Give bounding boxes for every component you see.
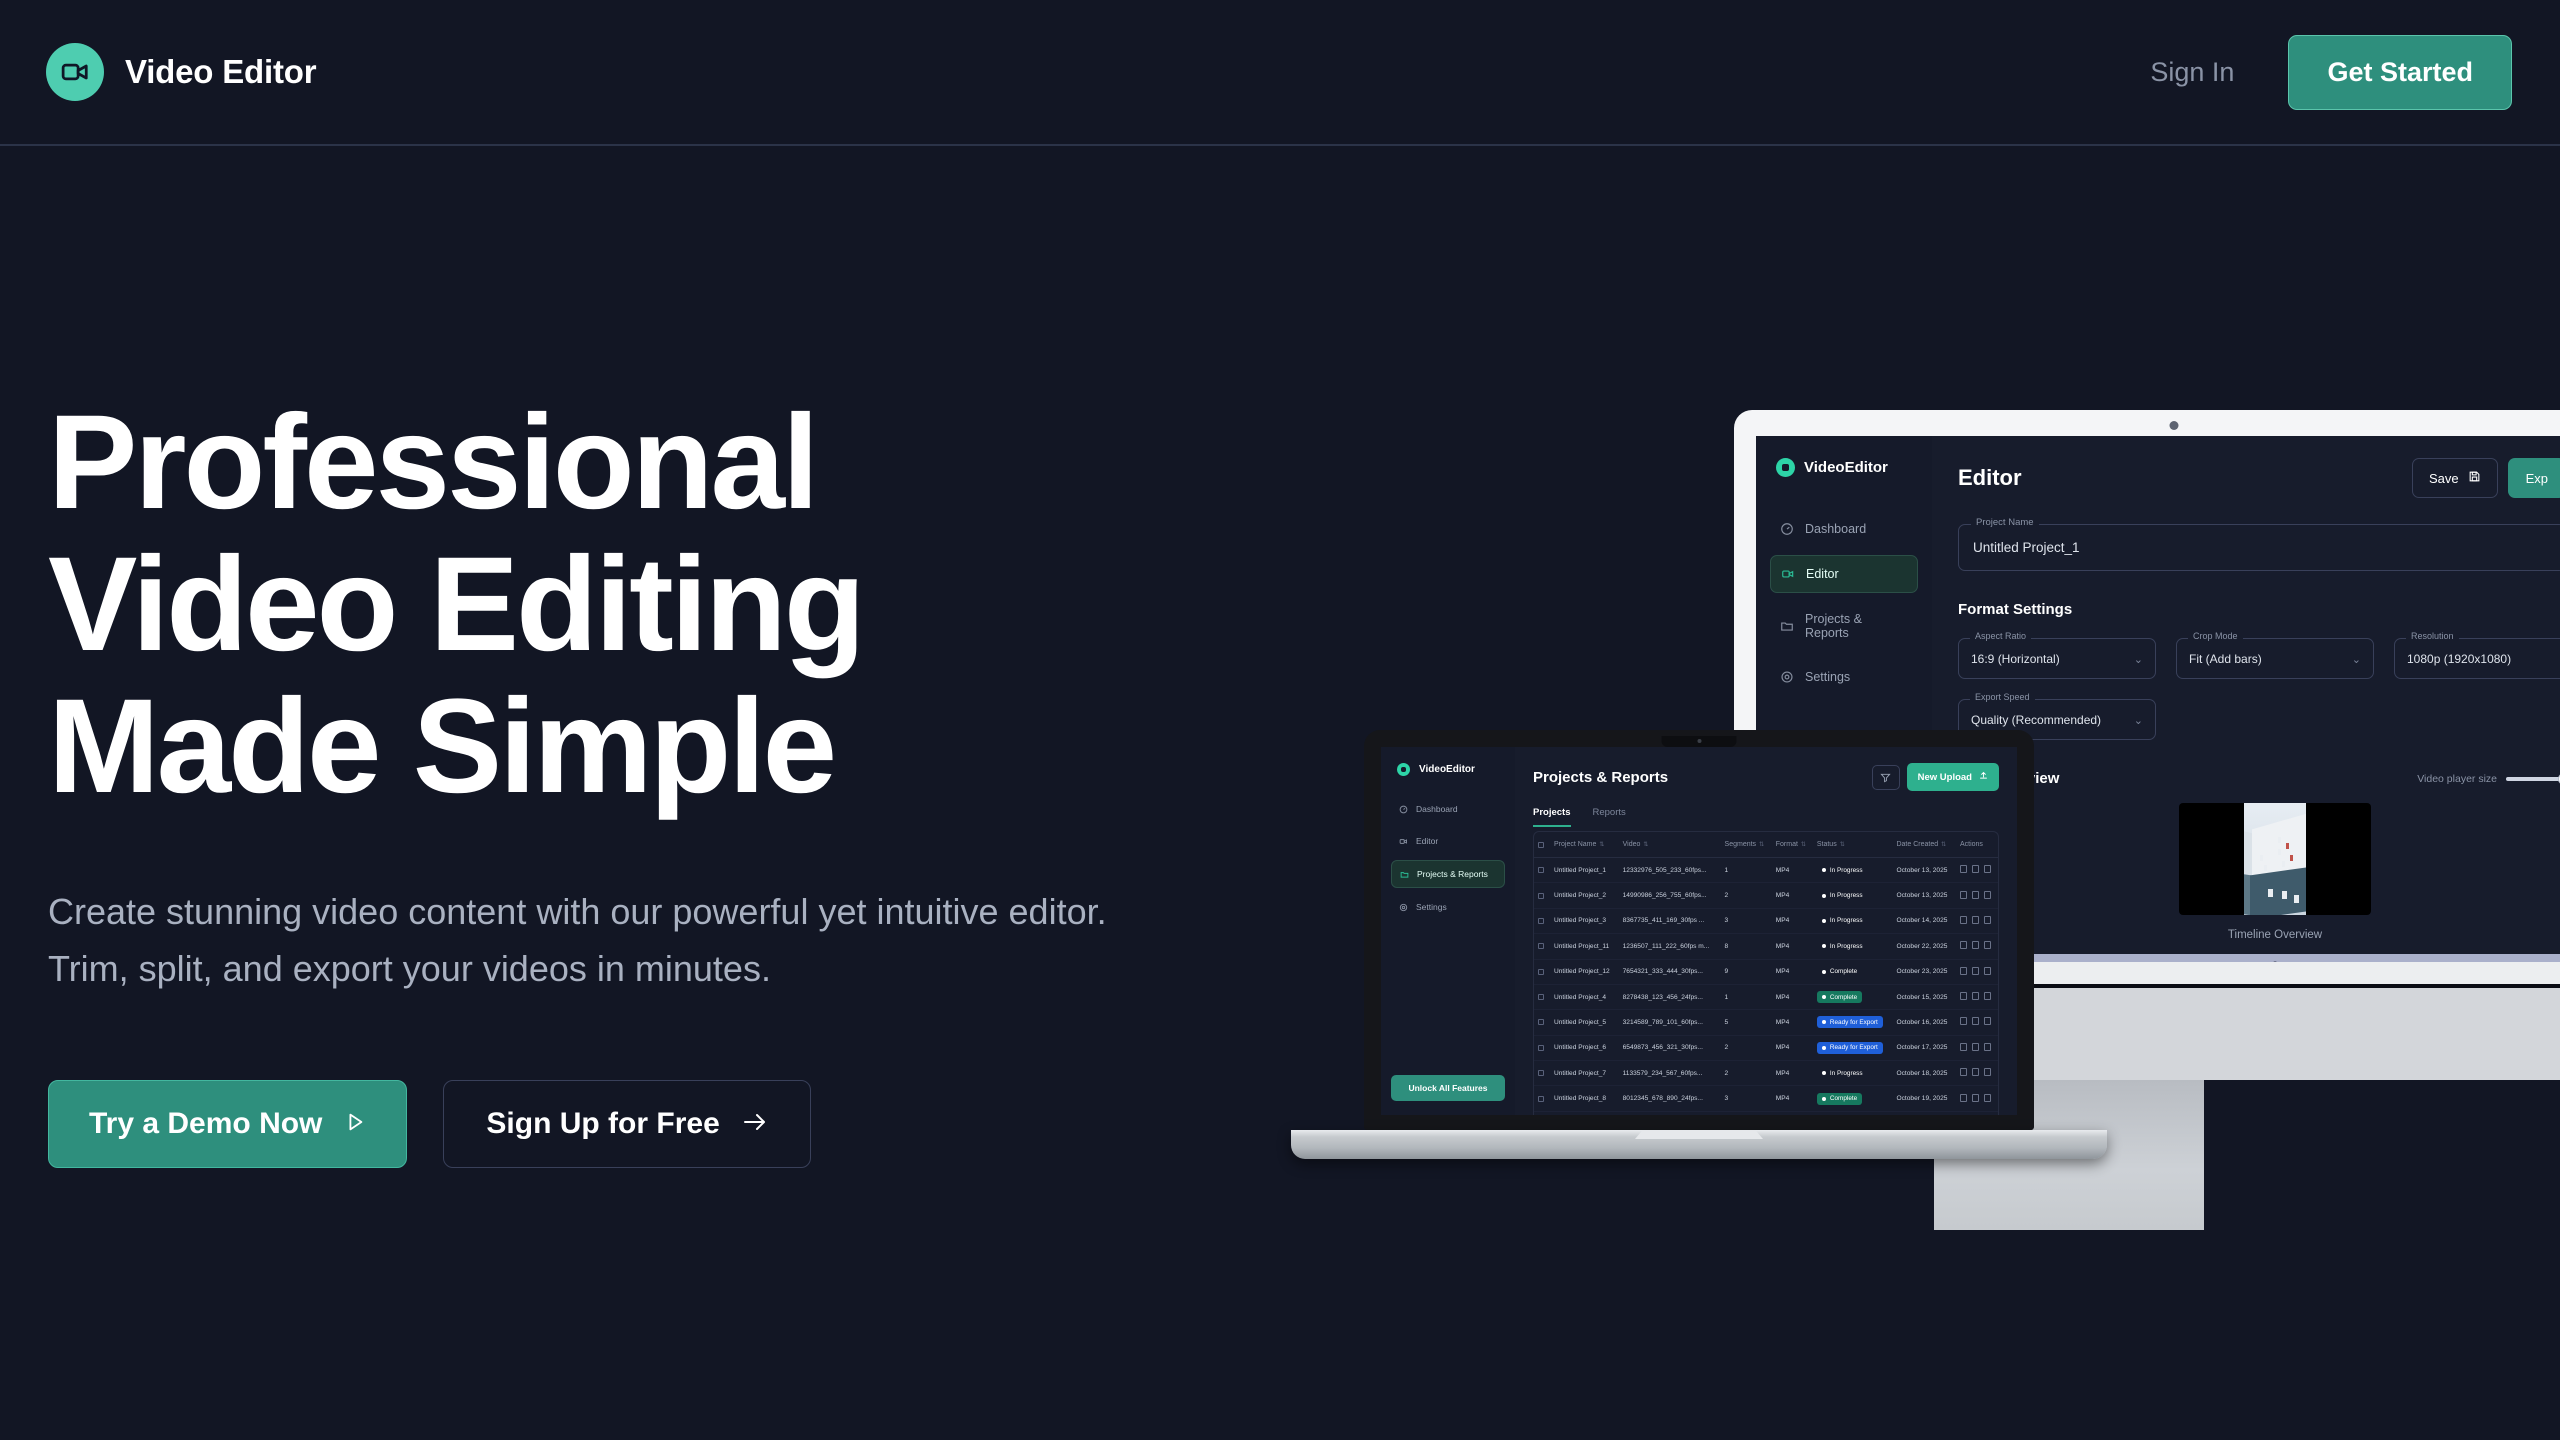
cell-project-name: Untitled Project_5 [1550, 1010, 1619, 1035]
status-dot-icon [1822, 919, 1826, 923]
cell-actions [1956, 883, 1998, 908]
checkbox-icon[interactable] [1538, 1045, 1544, 1051]
aspect-ratio-value: 16:9 (Horizontal) [1971, 652, 2060, 666]
export-speed-value: Quality (Recommended) [1971, 713, 2101, 727]
sort-icon: ⇅ [1759, 842, 1764, 848]
cell-segments: 2 [1721, 1061, 1772, 1086]
cell-date-created: October 18, 2025 [1892, 1061, 1955, 1086]
row-checkbox-cell[interactable] [1534, 1035, 1550, 1060]
resolution-select[interactable]: Resolution 1080p (1920x1080) ⌄ [2394, 638, 2560, 679]
cell-project-name: Untitled Project_4 [1550, 984, 1619, 1009]
sidebar-label: Dashboard [1416, 804, 1458, 814]
status-badge: In Progress [1817, 915, 1868, 927]
sign-up-label: Sign Up for Free [486, 1107, 719, 1141]
table-body: Untitled Project_112332976_505_233_60fps… [1534, 858, 1998, 1116]
status-badge: Complete [1817, 991, 1862, 1003]
cell-actions [1956, 908, 1998, 933]
cell-project-name: Untitled Project_3 [1550, 908, 1619, 933]
edit-icon[interactable] [1960, 916, 1967, 924]
column-segments[interactable]: Segments⇅ [1721, 832, 1772, 858]
sidebar-label: Editor [1416, 836, 1438, 846]
row-checkbox-cell[interactable] [1534, 858, 1550, 883]
sidebar-item-dashboard[interactable]: Dashboard [1770, 511, 1918, 547]
status-dot-icon [1822, 1071, 1826, 1075]
resolution-value: 1080p (1920x1080) [2407, 652, 2511, 666]
checkbox-icon[interactable] [1538, 893, 1544, 899]
projects-table: Project Name⇅ Video⇅ Segments⇅ Format⇅ S… [1534, 832, 1998, 1115]
app-logo: VideoEditor [1770, 458, 1918, 477]
status-badge: Complete [1817, 966, 1862, 978]
status-label: In Progress [1830, 892, 1863, 899]
delete-icon[interactable] [1984, 865, 1991, 873]
cell-format: MP4 [1772, 1111, 1813, 1115]
cell-date-created: October 16, 2025 [1892, 1010, 1955, 1035]
laptop-screen: VideoEditor Dashboard Editor Projec [1381, 747, 2017, 1115]
download-icon[interactable] [1972, 865, 1979, 873]
resolution-label: Resolution [2406, 631, 2459, 641]
row-checkbox-cell[interactable] [1534, 1086, 1550, 1111]
download-icon[interactable] [1972, 941, 1979, 949]
video-icon [1781, 567, 1795, 581]
status-label: Ready for Export [1830, 1044, 1878, 1051]
export-button[interactable]: Exp [2508, 458, 2560, 498]
player-size-slider[interactable] [2506, 777, 2560, 781]
sort-icon: ⇅ [1801, 842, 1806, 848]
status-dot-icon [1822, 1097, 1826, 1101]
laptop-lid: VideoEditor Dashboard Editor Projec [1364, 730, 2034, 1130]
status-label: In Progress [1830, 867, 1863, 874]
cell-segments: 1 [1721, 858, 1772, 883]
cell-date-created: October 17, 2025 [1892, 1035, 1955, 1060]
folder-icon [1780, 619, 1794, 633]
tab-reports[interactable]: Reports [1593, 807, 1626, 827]
try-demo-button[interactable]: Try a Demo Now [48, 1080, 407, 1168]
status-badge: Complete [1817, 1093, 1862, 1105]
delete-icon[interactable] [1984, 1094, 1991, 1102]
player-size-control[interactable]: Video player size [2417, 773, 2560, 785]
cell-status: Ready for Export [1813, 1010, 1893, 1035]
site-header: Video Editor Sign In Get Started [0, 0, 2560, 146]
cell-video: 1133579_234_567_60fps... [1619, 1061, 1721, 1086]
status-dot-icon [1822, 1020, 1826, 1024]
cell-actions [1956, 1086, 1998, 1111]
arrow-right-icon [742, 1107, 768, 1141]
webcam-icon [2170, 421, 2179, 430]
project-name-label: Project Name [1971, 517, 2039, 528]
sidebar-label: Settings [1805, 670, 1850, 684]
project-name-field[interactable]: Project Name Untitled Project_1 [1958, 524, 2560, 571]
sign-up-button[interactable]: Sign Up for Free [443, 1080, 810, 1168]
status-dot-icon [1822, 970, 1826, 974]
sidebar-label: Projects & Reports [1805, 612, 1908, 640]
sidebar-item-projects-reports[interactable]: Projects & Reports [1391, 860, 1505, 888]
cell-date-created: October 19, 2025 [1892, 1086, 1955, 1111]
sidebar-item-settings[interactable]: Settings [1770, 659, 1918, 695]
edit-icon[interactable] [1960, 941, 1967, 949]
app-logo: VideoEditor [1391, 763, 1505, 776]
status-dot-icon [1822, 868, 1826, 872]
chevron-down-icon: ⌄ [2134, 714, 2143, 727]
checkbox-icon[interactable] [1538, 969, 1544, 975]
video-camera-icon [46, 43, 104, 101]
cell-actions [1956, 984, 1998, 1009]
cell-format: MP4 [1772, 858, 1813, 883]
sidebar-item-editor[interactable]: Editor [1391, 828, 1505, 854]
gauge-icon [1780, 522, 1794, 536]
cell-date-created: October 22, 2025 [1892, 934, 1955, 959]
gear-icon [1399, 903, 1408, 912]
floppy-disk-icon [2468, 470, 2481, 486]
edit-icon[interactable] [1960, 1094, 1967, 1102]
cell-video: 2345678_123_456_60fps... [1619, 1111, 1721, 1115]
chevron-down-icon: ⌄ [2134, 653, 2143, 666]
cell-actions [1956, 1111, 1998, 1115]
video-icon [1397, 763, 1410, 776]
status-label: Complete [1830, 994, 1857, 1001]
table-row[interactable]: Untitled Project_48278438_123_456_24fps.… [1534, 984, 1998, 1009]
status-label: Ready for Export [1830, 1019, 1878, 1026]
editor-page-title: Editor [1958, 465, 2022, 491]
project-name-value: Untitled Project_1 [1973, 540, 2080, 555]
sort-icon: ⇅ [1643, 842, 1648, 848]
page-title: Professional Video Editing Made Simple [48, 392, 1128, 818]
status-badge: In Progress [1817, 890, 1868, 902]
cell-date-created: October 14, 2025 [1892, 908, 1955, 933]
editor-header-actions: Save Exp [2412, 458, 2560, 498]
delete-icon[interactable] [1984, 992, 1991, 1000]
new-upload-label: New Upload [1918, 772, 1972, 783]
status-label: Complete [1830, 968, 1857, 975]
aspect-ratio-label: Aspect Ratio [1970, 631, 2031, 641]
cell-date-created: October 15, 2025 [1892, 984, 1955, 1009]
row-checkbox-cell[interactable] [1534, 934, 1550, 959]
sort-icon: ⇅ [1941, 842, 1946, 848]
delete-icon[interactable] [1984, 967, 1991, 975]
delete-icon[interactable] [1984, 1068, 1991, 1076]
cell-status: In Progress [1813, 908, 1893, 933]
delete-icon[interactable] [1984, 1043, 1991, 1051]
app-logo-label: VideoEditor [1419, 764, 1475, 775]
row-checkbox-cell[interactable] [1534, 1111, 1550, 1115]
row-checkbox-cell[interactable] [1534, 883, 1550, 908]
edit-icon[interactable] [1960, 1017, 1967, 1025]
sidebar-label: Dashboard [1805, 522, 1866, 536]
sidebar-label: Editor [1806, 567, 1839, 581]
unlock-all-features-button[interactable]: Unlock All Features [1391, 1075, 1505, 1101]
upload-icon [1979, 771, 1988, 783]
cell-segments: 3 [1721, 1086, 1772, 1111]
cell-project-name: Untitled Project_8 [1550, 1086, 1619, 1111]
cell-status: In Progress [1813, 1061, 1893, 1086]
projects-sidebar: VideoEditor Dashboard Editor Projec [1381, 747, 1515, 1115]
sign-in-link[interactable]: Sign In [2150, 57, 2234, 88]
download-icon[interactable] [1972, 1068, 1979, 1076]
aspect-ratio-select[interactable]: Aspect Ratio 16:9 (Horizontal) ⌄ [1958, 638, 2156, 679]
table-row[interactable]: Untitled Project_92345678_123_456_60fps.… [1534, 1111, 1998, 1115]
video-player[interactable] [2179, 803, 2371, 915]
column-format[interactable]: Format⇅ [1772, 832, 1813, 858]
delete-icon[interactable] [1984, 891, 1991, 899]
delete-icon[interactable] [1984, 916, 1991, 924]
status-badge: In Progress [1817, 864, 1868, 876]
projects-tabs: Projects Reports [1533, 807, 2017, 827]
try-demo-label: Try a Demo Now [89, 1107, 322, 1141]
cell-video: 14990986_256_755_60fps... [1619, 883, 1721, 908]
status-badge: In Progress [1817, 940, 1868, 952]
checkbox-icon[interactable] [1538, 867, 1544, 873]
cell-video: 12332976_505_233_60fps... [1619, 858, 1721, 883]
cell-format: MP4 [1772, 984, 1813, 1009]
gear-icon [1780, 670, 1794, 684]
chevron-down-icon: ⌄ [2352, 653, 2361, 666]
landing-page: Video Editor Sign In Get Started Profess… [0, 0, 2560, 1440]
download-icon[interactable] [1972, 1094, 1979, 1102]
download-icon[interactable] [1972, 1017, 1979, 1025]
column-video[interactable]: Video⇅ [1619, 832, 1721, 858]
crop-mode-select[interactable]: Crop Mode Fit (Add bars) ⌄ [2176, 638, 2374, 679]
table-row[interactable]: Untitled Project_66549873_456_321_30fps.… [1534, 1035, 1998, 1060]
webcam-icon [1662, 736, 1737, 747]
edit-icon[interactable] [1960, 891, 1967, 899]
sidebar-item-dashboard[interactable]: Dashboard [1391, 796, 1505, 822]
sidebar-item-settings[interactable]: Settings [1391, 894, 1505, 920]
cell-format: MP4 [1772, 883, 1813, 908]
status-dot-icon [1822, 995, 1826, 999]
checkbox-icon[interactable] [1538, 1019, 1544, 1025]
crop-mode-label: Crop Mode [2188, 631, 2243, 641]
save-button[interactable]: Save [2412, 458, 2498, 498]
cell-date-created: October 20, 2025 [1892, 1111, 1955, 1115]
table-row[interactable]: Untitled Project_111236507_111_222_60fps… [1534, 934, 1998, 959]
column-project-name[interactable]: Project Name⇅ [1550, 832, 1619, 858]
crop-mode-value: Fit (Add bars) [2189, 652, 2262, 666]
cell-segments: 2 [1721, 883, 1772, 908]
save-label: Save [2429, 471, 2459, 486]
cell-segments: 8 [1721, 934, 1772, 959]
laptop-base [1291, 1130, 2107, 1159]
cell-project-name: Untitled Project_12 [1550, 959, 1619, 984]
export-speed-label: Export Speed [1970, 692, 2035, 702]
brand-logo[interactable]: Video Editor [46, 43, 316, 101]
cell-status: Complete [1813, 959, 1893, 984]
cell-video: 8012345_678_890_24fps... [1619, 1086, 1721, 1111]
download-icon[interactable] [1972, 1043, 1979, 1051]
cell-status: Ready for Export [1813, 1111, 1893, 1115]
cell-segments: 2 [1721, 1035, 1772, 1060]
status-dot-icon [1822, 944, 1826, 948]
cell-segments: 1 [1721, 984, 1772, 1009]
cell-project-name: Untitled Project_6 [1550, 1035, 1619, 1060]
sort-icon: ⇅ [1840, 842, 1845, 848]
brand-name: Video Editor [125, 53, 316, 91]
get-started-button[interactable]: Get Started [2288, 35, 2512, 110]
table-row[interactable]: Untitled Project_88012345_678_890_24fps.… [1534, 1086, 1998, 1111]
status-dot-icon [1822, 894, 1826, 898]
cell-segments: 9 [1721, 959, 1772, 984]
status-label: Complete [1830, 1095, 1857, 1102]
row-checkbox-cell[interactable] [1534, 908, 1550, 933]
cell-video: 8278438_123_456_24fps... [1619, 984, 1721, 1009]
cell-status: In Progress [1813, 858, 1893, 883]
row-checkbox-cell[interactable] [1534, 1061, 1550, 1086]
column-status[interactable]: Status⇅ [1813, 832, 1893, 858]
status-badge: In Progress [1817, 1067, 1868, 1079]
cell-project-name: Untitled Project_9 [1550, 1111, 1619, 1115]
download-icon[interactable] [1972, 967, 1979, 975]
cell-video: 8367735_411_169_30fps ... [1619, 908, 1721, 933]
table-row[interactable]: Untitled Project_112332976_505_233_60fps… [1534, 858, 1998, 883]
cell-video: 7654321_333_444_30fps... [1619, 959, 1721, 984]
cell-date-created: October 13, 2025 [1892, 883, 1955, 908]
cell-status: In Progress [1813, 934, 1893, 959]
cell-actions [1956, 1010, 1998, 1035]
folder-icon [1400, 870, 1409, 879]
edit-icon[interactable] [1960, 992, 1967, 1000]
edit-icon[interactable] [1960, 865, 1967, 873]
format-settings-title: Format Settings [1958, 601, 2560, 618]
status-dot-icon [1822, 1046, 1826, 1050]
editor-header: Editor Save Exp [1958, 458, 2560, 498]
checkbox-icon[interactable] [1538, 842, 1544, 848]
cell-status: Complete [1813, 984, 1893, 1009]
sidebar-label: Settings [1416, 902, 1447, 912]
edit-icon[interactable] [1960, 967, 1967, 975]
gauge-icon [1399, 805, 1408, 814]
video-thumbnail [2244, 803, 2306, 915]
cell-video: 3214589_789_101_60fps... [1619, 1010, 1721, 1035]
sort-icon: ⇅ [1599, 842, 1604, 848]
table-header: Project Name⇅ Video⇅ Segments⇅ Format⇅ S… [1534, 832, 1998, 858]
cell-format: MP4 [1772, 959, 1813, 984]
laptop-front-notch [1635, 1130, 1763, 1139]
row-checkbox-cell[interactable] [1534, 1010, 1550, 1035]
cell-project-name: Untitled Project_7 [1550, 1061, 1619, 1086]
cell-segments: 4 [1721, 1111, 1772, 1115]
checkbox-icon[interactable] [1538, 918, 1544, 924]
cell-format: MP4 [1772, 908, 1813, 933]
download-icon[interactable] [1972, 992, 1979, 1000]
sidebar-item-editor[interactable]: Editor [1770, 555, 1918, 593]
cell-status: In Progress [1813, 883, 1893, 908]
cell-project-name: Untitled Project_2 [1550, 883, 1619, 908]
sidebar-item-projects-reports[interactable]: Projects & Reports [1770, 601, 1918, 651]
status-label: In Progress [1830, 917, 1863, 924]
status-label: In Progress [1830, 1070, 1863, 1077]
status-badge: Ready for Export [1817, 1042, 1883, 1054]
projects-app: VideoEditor Dashboard Editor Projec [1381, 747, 2017, 1115]
row-checkbox-cell[interactable] [1534, 984, 1550, 1009]
table-row[interactable]: Untitled Project_38367735_411_169_30fps … [1534, 908, 1998, 933]
cta-row: Try a Demo Now Sign Up for Free [48, 1080, 1128, 1168]
video-icon [1399, 837, 1408, 846]
cell-actions [1956, 1035, 1998, 1060]
cell-format: MP4 [1772, 1086, 1813, 1111]
cell-date-created: October 23, 2025 [1892, 959, 1955, 984]
checkbox-icon[interactable] [1538, 943, 1544, 949]
cell-format: MP4 [1772, 1061, 1813, 1086]
projects-page-title: Projects & Reports [1533, 769, 1668, 786]
row-checkbox-cell[interactable] [1534, 959, 1550, 984]
cell-actions [1956, 934, 1998, 959]
cell-date-created: October 13, 2025 [1892, 858, 1955, 883]
projects-header: Projects & Reports New Upload [1533, 763, 2017, 791]
cell-format: MP4 [1772, 1010, 1813, 1035]
cell-segments: 5 [1721, 1010, 1772, 1035]
edit-icon[interactable] [1960, 1068, 1967, 1076]
cell-project-name: Untitled Project_1 [1550, 858, 1619, 883]
hero-section: Professional Video Editing Made Simple C… [48, 392, 1128, 1168]
play-triangle-icon [344, 1107, 366, 1141]
laptop-mockup: VideoEditor Dashboard Editor Projec [1364, 730, 2107, 1159]
cell-format: MP4 [1772, 1035, 1813, 1060]
cell-status: Ready for Export [1813, 1035, 1893, 1060]
table-row[interactable]: Untitled Project_71133579_234_567_60fps.… [1534, 1061, 1998, 1086]
header-actions: Sign In Get Started [2150, 35, 2512, 110]
column-date-created[interactable]: Date Created⇅ [1892, 832, 1955, 858]
edit-icon[interactable] [1960, 1043, 1967, 1051]
table-row[interactable]: Untitled Project_127654321_333_444_30fps… [1534, 959, 1998, 984]
column-select-all[interactable] [1534, 832, 1550, 858]
cell-actions [1956, 858, 1998, 883]
cell-format: MP4 [1772, 934, 1813, 959]
cell-video: 1236507_111_222_60fps m... [1619, 934, 1721, 959]
table-row[interactable]: Untitled Project_214990986_256_755_60fps… [1534, 883, 1998, 908]
status-label: In Progress [1830, 943, 1863, 950]
cell-actions [1956, 959, 1998, 984]
checkbox-icon[interactable] [1538, 994, 1544, 1000]
cell-actions [1956, 1061, 1998, 1086]
status-badge: Ready for Export [1817, 1016, 1883, 1028]
column-actions: Actions [1956, 832, 1998, 858]
cell-project-name: Untitled Project_11 [1550, 934, 1619, 959]
download-icon[interactable] [1972, 916, 1979, 924]
tab-projects[interactable]: Projects [1533, 807, 1571, 827]
sidebar-label: Projects & Reports [1417, 869, 1488, 879]
app-logo-label: VideoEditor [1804, 459, 1888, 476]
table-row[interactable]: Untitled Project_53214589_789_101_60fps.… [1534, 1010, 1998, 1035]
video-icon [1776, 458, 1795, 477]
projects-table-wrapper: Project Name⇅ Video⇅ Segments⇅ Format⇅ S… [1533, 831, 1999, 1115]
delete-icon[interactable] [1984, 941, 1991, 949]
cell-status: Complete [1813, 1086, 1893, 1111]
hero-subtitle: Create stunning video content with our p… [48, 884, 1108, 998]
cell-video: 6549873_456_321_30fps... [1619, 1035, 1721, 1060]
filter-icon[interactable] [1872, 765, 1900, 790]
format-selects-row-1: Aspect Ratio 16:9 (Horizontal) ⌄ Crop Mo… [1958, 638, 2560, 679]
new-upload-button[interactable]: New Upload [1907, 763, 1999, 791]
cell-segments: 3 [1721, 908, 1772, 933]
projects-main: Projects & Reports New Upload [1515, 747, 2017, 1115]
download-icon[interactable] [1972, 891, 1979, 899]
player-size-label: Video player size [2417, 773, 2497, 785]
projects-header-actions: New Upload [1872, 763, 1999, 791]
checkbox-icon[interactable] [1538, 1070, 1544, 1076]
checkbox-icon[interactable] [1538, 1096, 1544, 1102]
delete-icon[interactable] [1984, 1017, 1991, 1025]
